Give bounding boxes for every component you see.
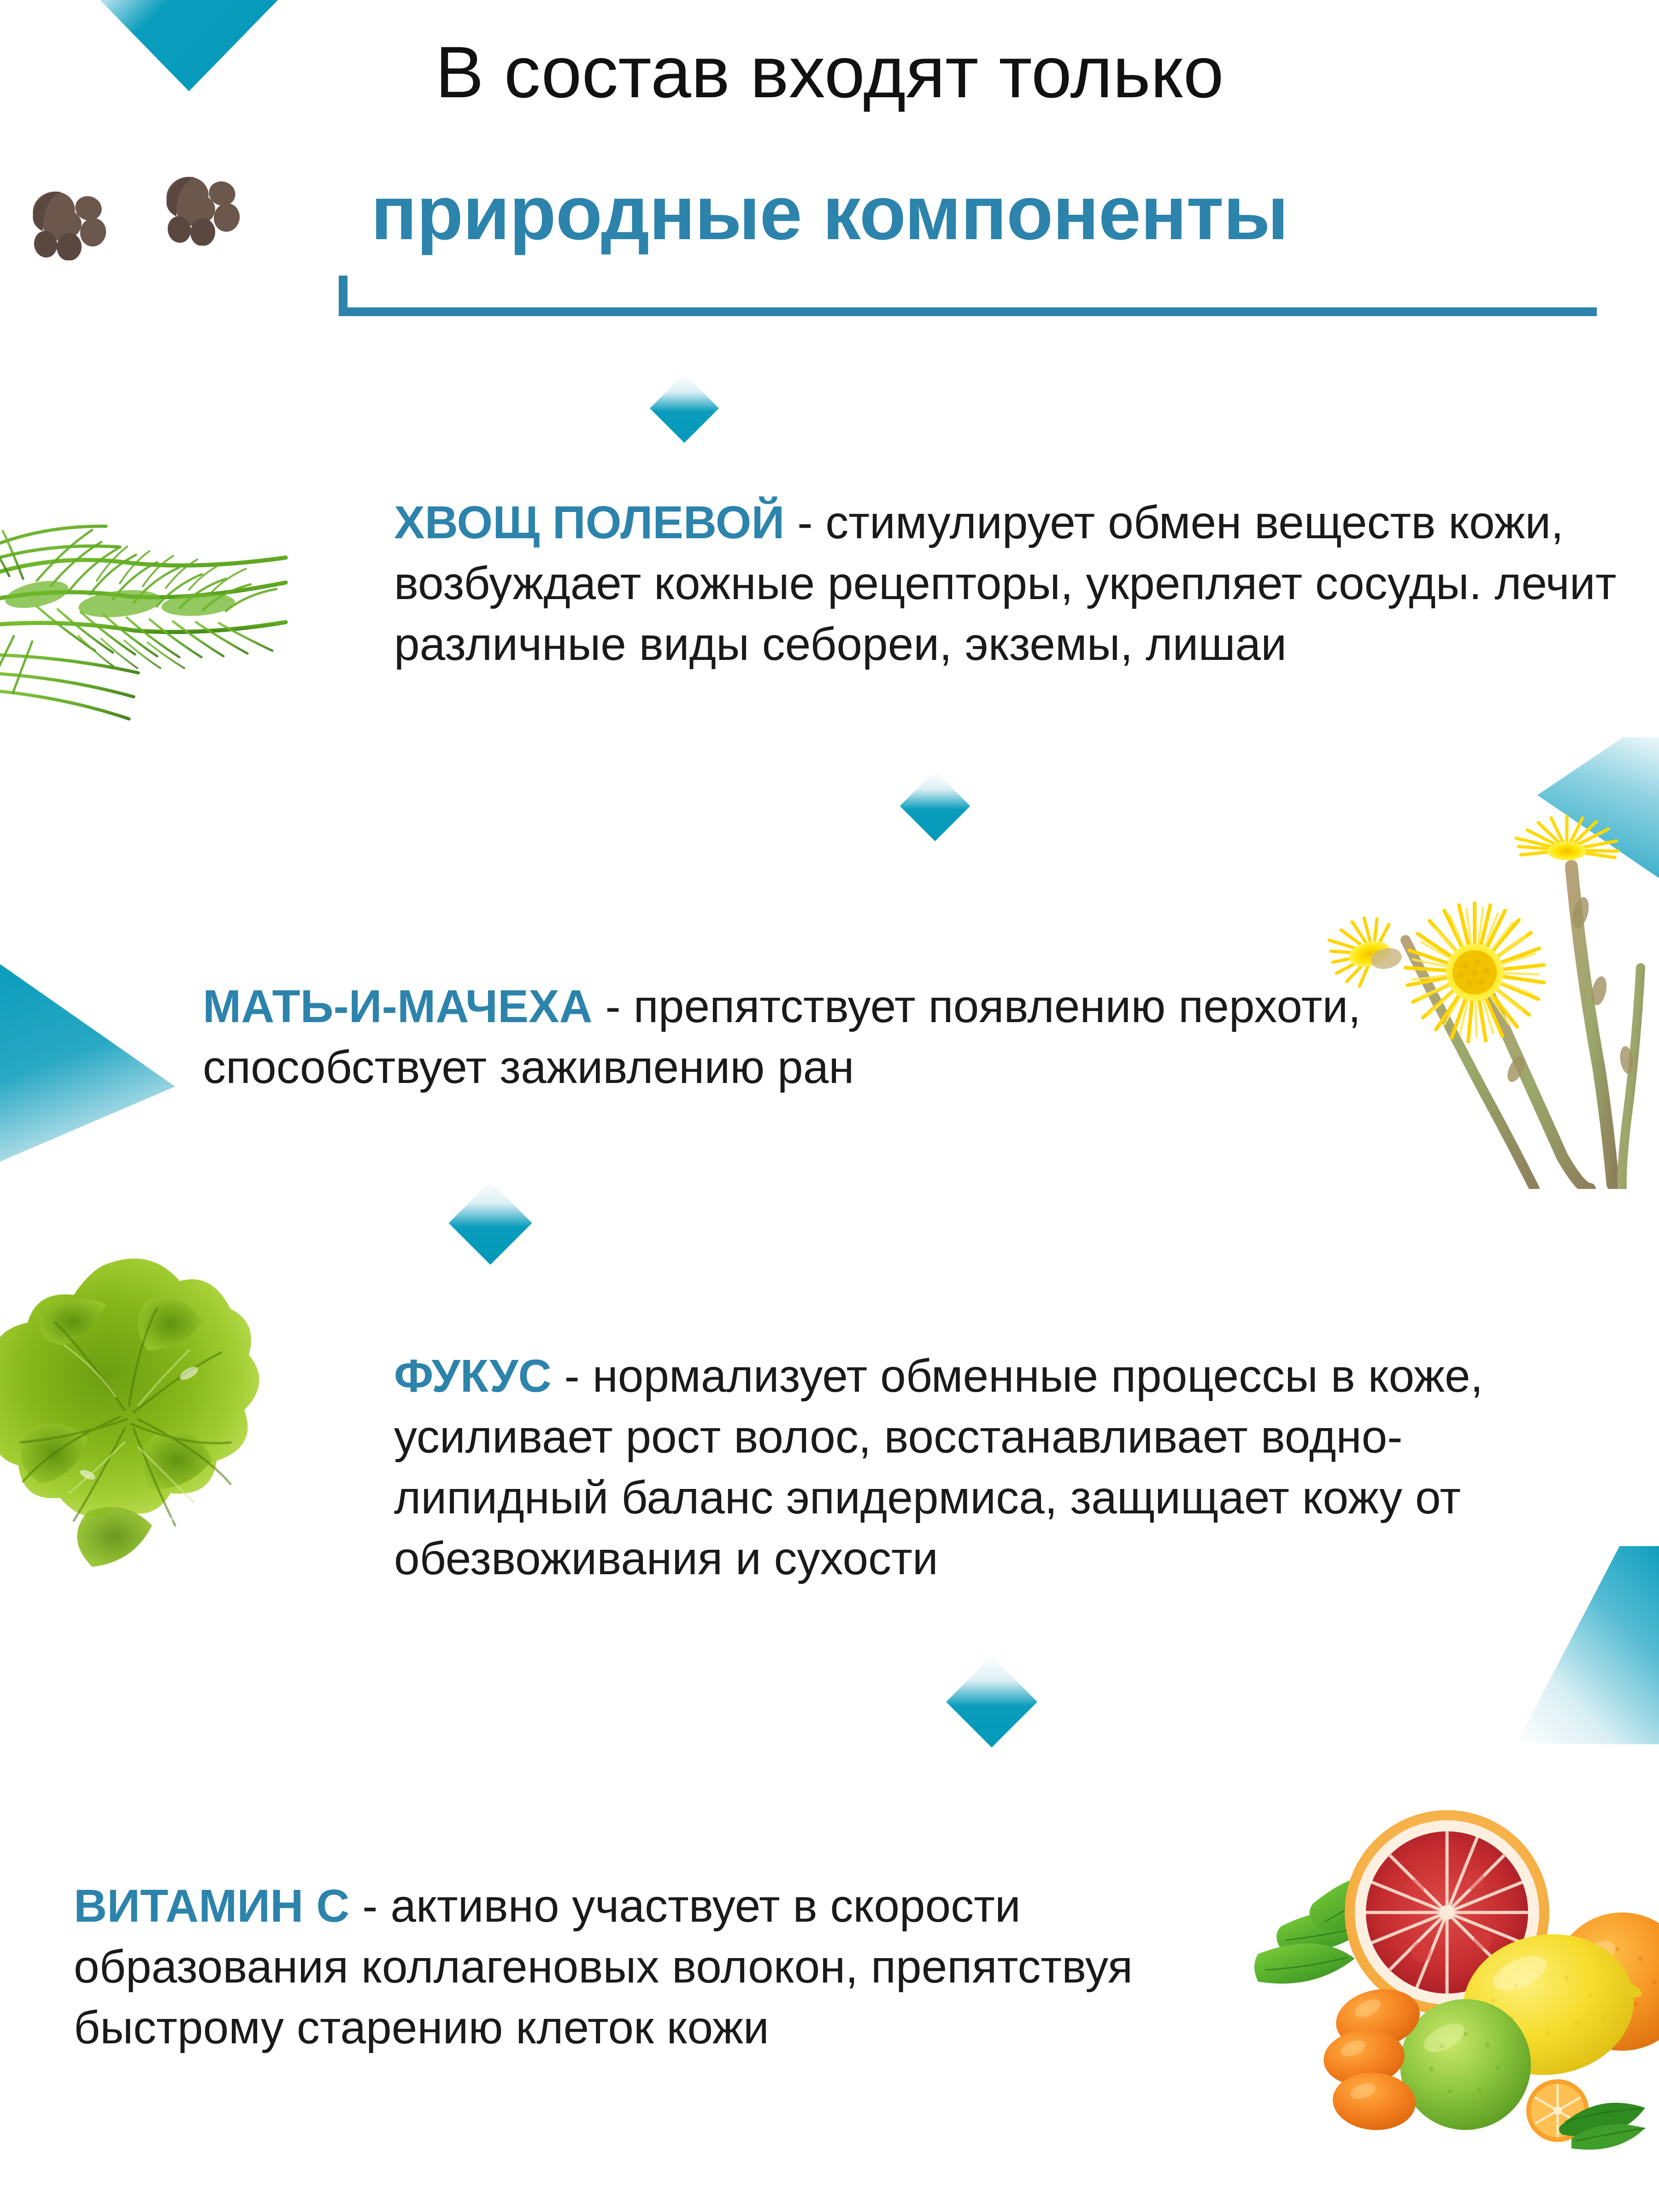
diamond-separator-2 — [900, 771, 971, 841]
ingredient-name-3: ФУКУС — [394, 1350, 552, 1402]
title-underline-tick — [339, 276, 347, 309]
ingredient-block-1: ХВОЩ ПОЛЕВОЙ - стимулирует обмен веществ… — [394, 492, 1624, 675]
ingredient-separator-4: - — [350, 1880, 391, 1932]
citrus-fruits-image — [1253, 1788, 1659, 2166]
diamond-separator-3 — [448, 1181, 532, 1265]
seaweed-fucus-image — [0, 1235, 295, 1613]
ingredient-name-2: МАТЬ-И-МАЧЕХА — [203, 981, 593, 1032]
ingredient-separator-3: - — [552, 1350, 593, 1402]
ingredient-text-4: ВИТАМИН С - активно участвует в скорости… — [74, 1876, 1253, 2058]
ingredient-separator-1: - — [784, 497, 825, 548]
ingredient-text-3: ФУКУС - нормализует обменные процессы в … — [394, 1346, 1592, 1589]
horsetail-plant-image — [0, 442, 295, 737]
title-underline — [339, 307, 1597, 316]
page-title-line-1: В состав входят только — [0, 36, 1659, 109]
diamond-separator-4 — [946, 1656, 1037, 1747]
coltsfoot-flower-image — [1323, 774, 1659, 1189]
ingredient-block-2: МАТЬ-И-МАЧЕХА - препятствует появлению п… — [203, 976, 1369, 1098]
left-wedge-decoration — [0, 961, 175, 1164]
ingredient-text-2: МАТЬ-И-МАЧЕХА - препятствует появлению п… — [203, 976, 1369, 1098]
ingredient-name-4: ВИТАМИН С — [74, 1880, 350, 1932]
ingredient-text-1: ХВОЩ ПОЛЕВОЙ - стимулирует обмен веществ… — [394, 492, 1624, 675]
ingredient-block-3: ФУКУС - нормализует обменные процессы в … — [394, 1346, 1592, 1589]
diamond-separator-1 — [650, 374, 719, 443]
page-title-line-2: природные компоненты — [371, 175, 1288, 252]
infographic-canvas: В состав входят только природные компоне… — [0, 0, 1659, 2212]
page-title-line-2-wrapper: природные компоненты — [0, 175, 1659, 252]
ingredient-name-1: ХВОЩ ПОЛЕВОЙ — [394, 497, 784, 548]
ingredient-separator-2: - — [593, 981, 634, 1032]
ingredient-block-4: ВИТАМИН С - активно участвует в скорости… — [74, 1876, 1253, 2058]
